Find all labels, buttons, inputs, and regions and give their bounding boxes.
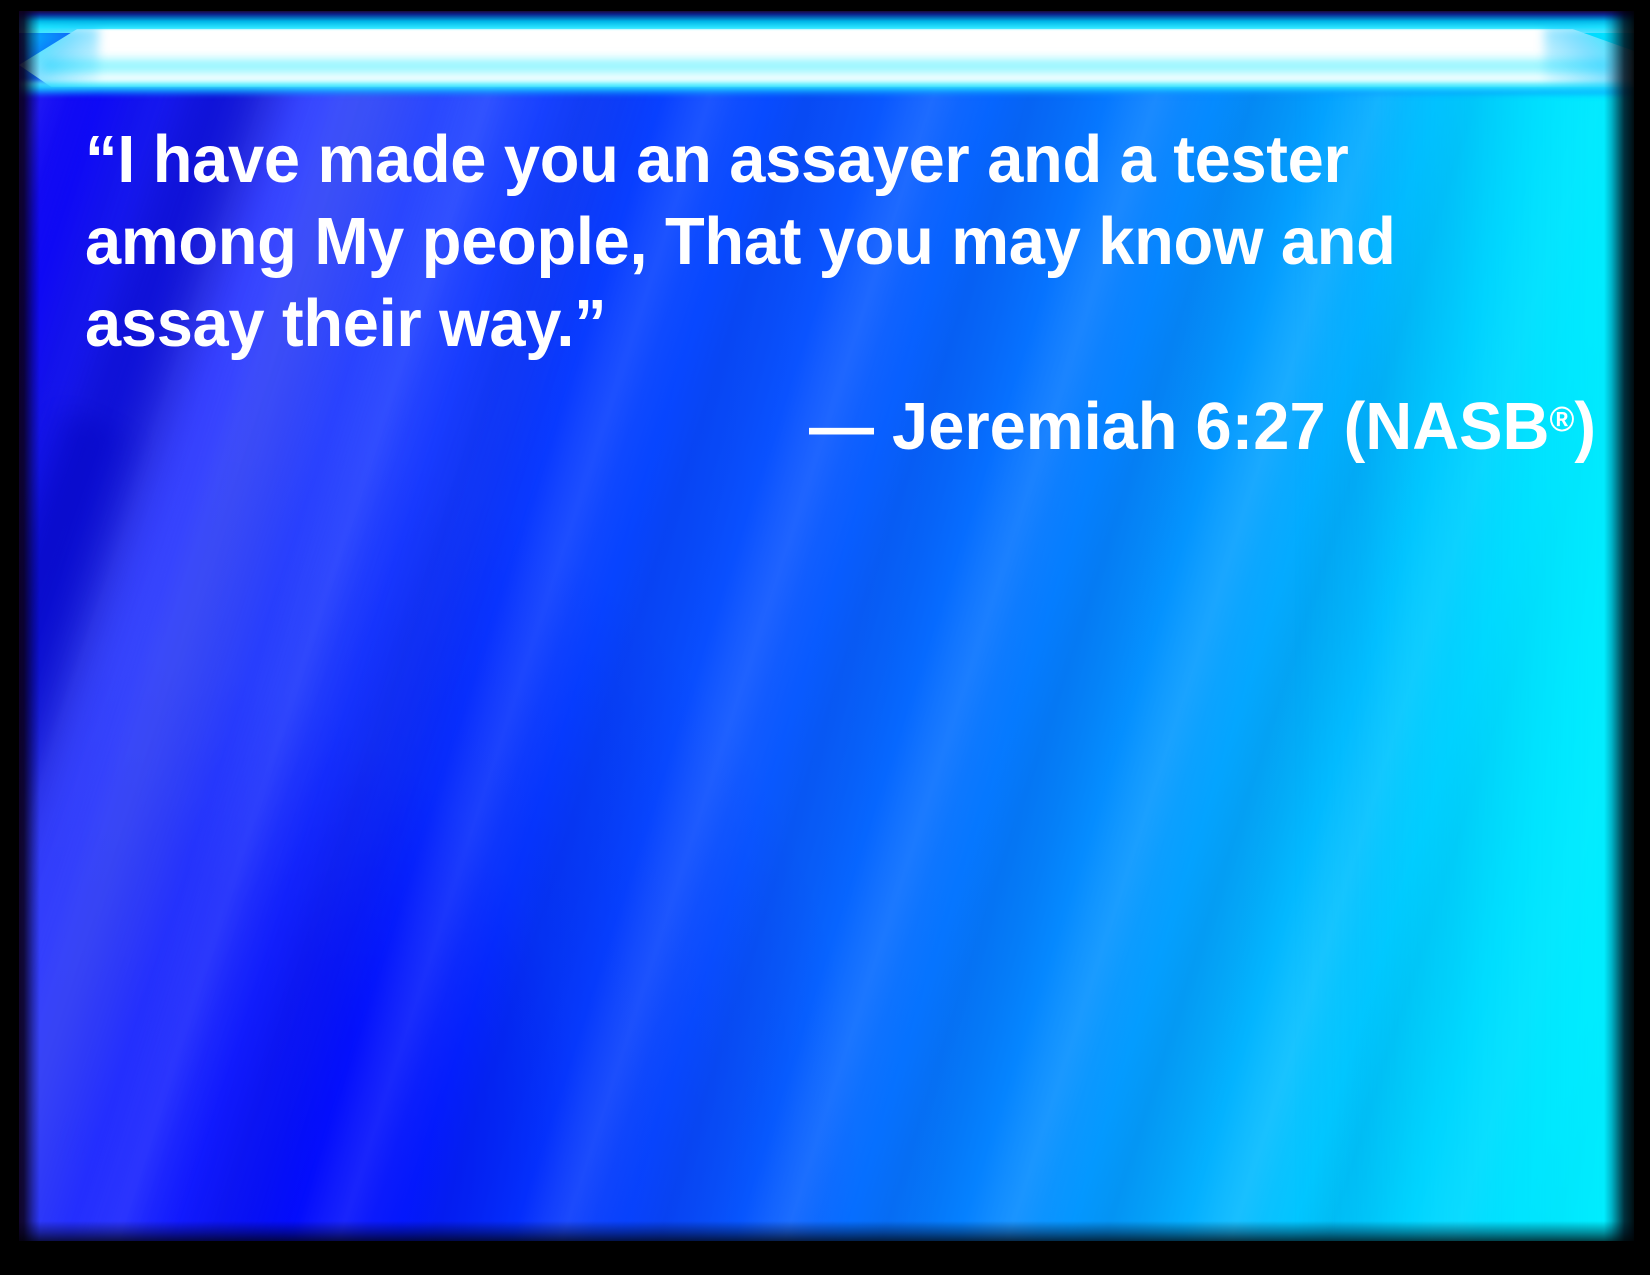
attribution-suffix: )	[1574, 389, 1596, 464]
verse-line-1: “I have made you an assayer and a tester	[85, 119, 1482, 201]
verse-slide: “I have made you an assayer and a tester…	[0, 0, 1650, 1275]
frame-border-right	[1634, 0, 1650, 1275]
verse-text-block: “I have made you an assayer and a tester…	[19, 11, 1634, 1241]
verse-attribution: — Jeremiah 6:27 (NASB®)	[238, 379, 1596, 468]
registered-trademark-icon: ®	[1549, 400, 1574, 439]
verse-line-3: assay their way.”	[85, 283, 1482, 365]
attribution-prefix: — Jeremiah 6:27 (NASB	[809, 389, 1549, 464]
verse-quote: “I have made you an assayer and a tester…	[85, 119, 1525, 365]
verse-line-2: among My people, That you may know and	[85, 201, 1482, 283]
